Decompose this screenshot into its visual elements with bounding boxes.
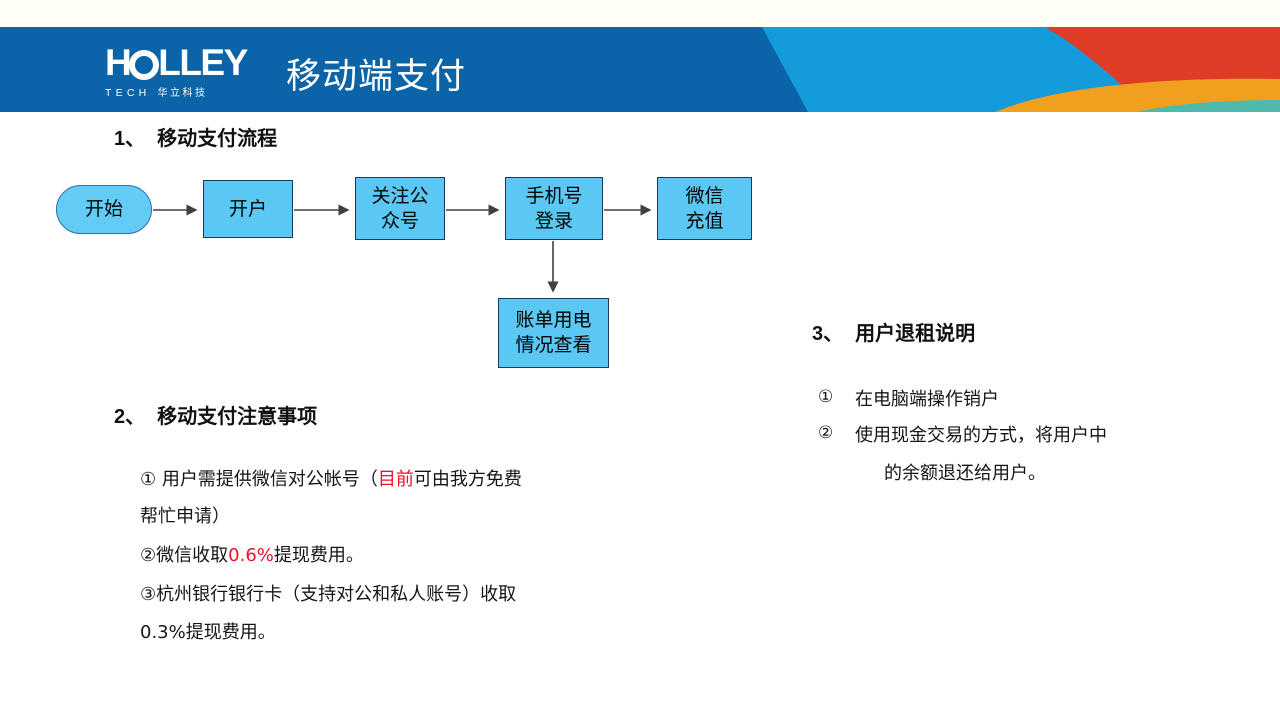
- section-2-title: 移动支付注意事项: [157, 404, 317, 428]
- section-2-line-2: 帮忙申请）: [140, 502, 230, 528]
- section-3-number: 3、: [812, 323, 843, 345]
- section-2-line-3-pre: ②微信收取: [140, 545, 228, 566]
- flow-node-follow-official-account[interactable]: 关注公 众号: [355, 177, 445, 240]
- section-2-line-1-highlight: 目前: [378, 469, 414, 490]
- section-2-line-4: ③杭州银行银行卡（支持对公和私人账号）收取: [140, 580, 516, 606]
- flow-node-kaihu[interactable]: 开户: [203, 180, 293, 238]
- section-3-item-2-text-continued: 的余额退还给用户。: [884, 459, 1046, 485]
- section-3-item-1-text: 在电脑端操作销户: [855, 385, 999, 411]
- section-2-line-1: ① 用户需提供微信对公帐号（目前可由我方免费: [140, 465, 522, 491]
- section-3-item-2-marker: ②: [818, 423, 833, 443]
- section-3-heading: 3、用户退租说明: [812, 317, 975, 346]
- section-2-line-3-highlight: 0.6%: [228, 545, 274, 566]
- section-2-line-1-post: 可由我方免费: [414, 469, 522, 490]
- flow-node-phone-login[interactable]: 手机号 登录: [505, 177, 603, 240]
- section-2-heading: 2、移动支付注意事项: [114, 400, 317, 429]
- section-2-line-3-post: 提现费用。: [274, 545, 364, 566]
- section-3-item-1-marker: ①: [818, 387, 833, 407]
- payment-flowchart: 开始 开户 关注公 众号 手机号 登录 微信 充值 账单用电 情况查看: [0, 0, 800, 400]
- section-3-item-2-text: 使用现金交易的方式，将用户中: [855, 421, 1107, 447]
- slide-root: HLLEY TECH 华立科技 移动端支付 1、移动支付流程 开始 开户 关注公…: [0, 0, 1280, 720]
- flow-node-start[interactable]: 开始: [56, 185, 152, 234]
- flow-node-bill-usage-view[interactable]: 账单用电 情况查看: [498, 298, 609, 368]
- section-2-line-3: ②微信收取0.6%提现费用。: [140, 541, 364, 567]
- flow-node-wechat-recharge[interactable]: 微信 充值: [657, 177, 752, 240]
- section-2-line-1-pre: ① 用户需提供微信对公帐号（: [140, 469, 378, 490]
- section-3-title: 用户退租说明: [855, 321, 975, 345]
- section-2-line-5: 0.3%提现费用。: [140, 618, 276, 644]
- section-2-number: 2、: [114, 406, 145, 428]
